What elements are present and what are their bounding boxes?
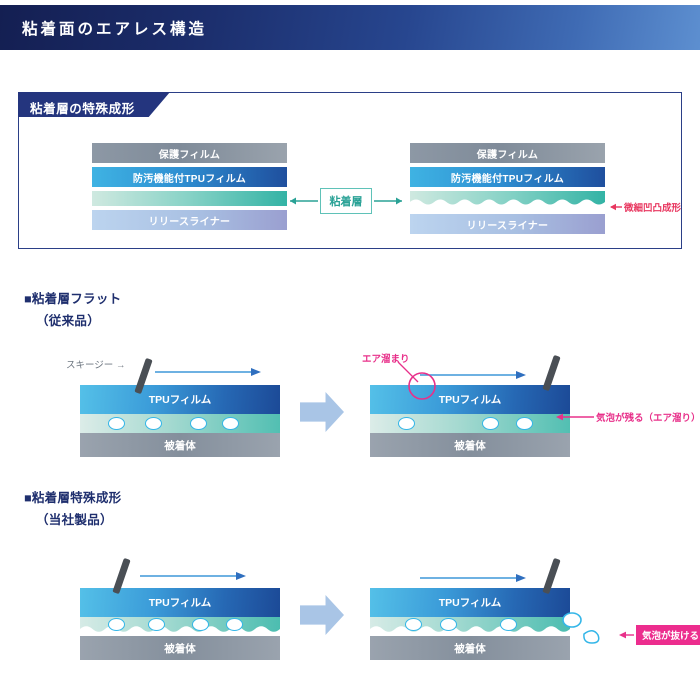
layer-protective-film: 保護フィルム [92, 143, 287, 163]
panel-tab-label: 粘着層の特殊成形 [30, 98, 135, 117]
layer-tpu-film: 防汚機能付TPUフィルム [410, 167, 605, 187]
layer-tpu-film: 防汚機能付TPUフィルム [92, 167, 287, 187]
section-special-subheading: （当社製品） [36, 509, 113, 528]
page-title: 粘着面のエアレス構造 [22, 17, 207, 39]
arrow-right-icon [374, 194, 408, 208]
substrate-block: 被着体 [80, 433, 280, 457]
arrow-left-red-icon [606, 201, 622, 213]
bubbles-remain-label: 気泡が残る（エア溜り） [596, 410, 700, 424]
section-special-heading: ■粘着層特殊成形 [24, 487, 121, 506]
direction-arrow-icon [140, 570, 248, 582]
tpu-film-block: TPUフィルム [370, 588, 570, 617]
adhesive-layer-block [80, 414, 280, 433]
air-bubble [108, 417, 125, 430]
air-bubble [222, 417, 239, 430]
air-bubble [148, 618, 165, 631]
squeegee-label: スキージー → [66, 357, 125, 371]
adhesive-layer-block [370, 414, 570, 433]
layer-stack-flat: 保護フィルム 防汚機能付TPUフィルム リリースライナー [92, 143, 287, 234]
section-flat-subheading: （従来品） [36, 310, 100, 329]
air-bubble [190, 417, 207, 430]
substrate-block: 被着体 [80, 636, 280, 660]
layer-release-liner: リリースライナー [410, 214, 605, 234]
air-bubble [145, 417, 162, 430]
diagram-flat-before: TPUフィルム 被着体 [80, 385, 280, 457]
tpu-film-block: TPUフィルム [80, 385, 280, 414]
air-bubble [482, 417, 499, 430]
air-bubble [192, 618, 209, 631]
air-bubble [108, 618, 125, 631]
layer-release-liner: リリースライナー [92, 210, 287, 230]
layer-adhesive-flat [92, 191, 287, 206]
process-arrow-icon [300, 595, 344, 635]
substrate-block: 被着体 [370, 433, 570, 457]
diagram-special-before: TPUフィルム 被着体 [80, 588, 280, 660]
process-arrow-icon [300, 392, 344, 432]
layer-stack-embossed: 保護フィルム 防汚機能付TPUフィルム リリースライナー [410, 143, 605, 238]
arrow-left-magenta-icon [614, 629, 634, 641]
direction-arrow-icon [420, 572, 528, 584]
adhesive-layer-callout-box: 粘着層 [320, 188, 372, 214]
layer-protective-film: 保護フィルム [410, 143, 605, 163]
arrow-left-magenta-icon [548, 411, 594, 423]
substrate-block: 被着体 [370, 636, 570, 660]
air-bubble [500, 618, 517, 631]
direction-arrow-icon [155, 366, 263, 378]
air-bubble [398, 417, 415, 430]
escaping-bubbles-icon [560, 612, 616, 656]
emboss-annotation-label: 微細凹凸成形 [624, 200, 681, 214]
layer-adhesive-embossed [410, 191, 605, 210]
diagram-special-after: TPUフィルム 被着体 [370, 588, 570, 660]
adhesive-layer-embossed-block [370, 617, 570, 636]
tpu-film-block: TPUフィルム [80, 588, 280, 617]
air-bubble [226, 618, 243, 631]
adhesive-layer-embossed-block [80, 617, 280, 636]
air-bubble [405, 618, 422, 631]
air-bubble [440, 618, 457, 631]
arrow-left-icon [284, 194, 318, 208]
bubbles-escape-label: 気泡が抜ける [636, 625, 700, 645]
air-bubble [516, 417, 533, 430]
section-flat-heading: ■粘着層フラット [24, 288, 121, 307]
callout-leader-line [396, 360, 442, 402]
